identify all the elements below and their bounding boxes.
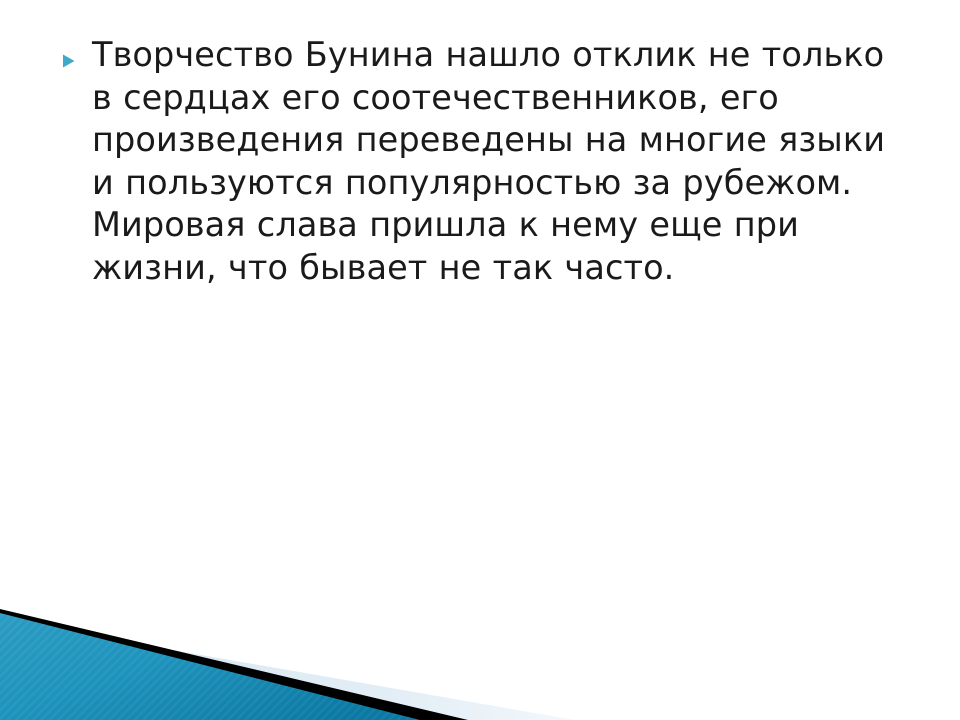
bullet-list-item[interactable]: Творчество Бунина нашло отклик не только… — [62, 34, 912, 290]
banner-teal-wedge — [0, 613, 420, 720]
bullet-paragraph-text: Творчество Бунина нашло отклик не только… — [92, 34, 912, 290]
bottom-left-angled-banner — [0, 590, 960, 720]
banner-pale-stripe — [0, 620, 575, 720]
content-placeholder[interactable]: Творчество Бунина нашло отклик не только… — [62, 34, 912, 290]
slide: Творчество Бунина нашло отклик не только… — [0, 0, 960, 720]
banner-black-stripe — [0, 609, 468, 720]
triangle-right-bullet-icon — [62, 34, 92, 69]
